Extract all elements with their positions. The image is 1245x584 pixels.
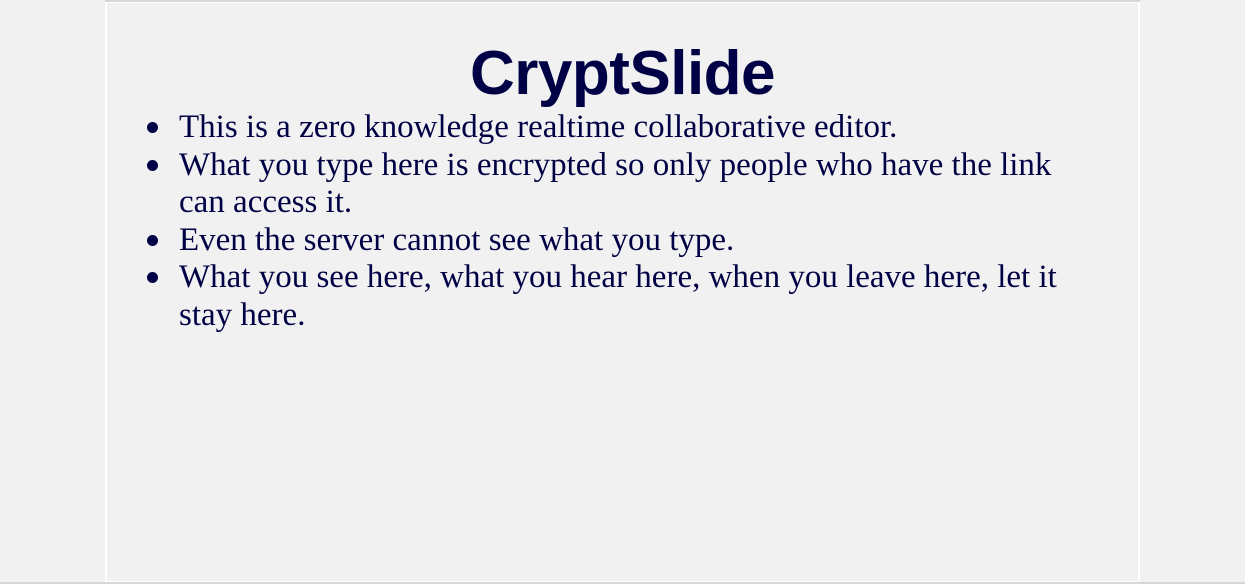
bullet-dot-icon [147, 160, 158, 171]
bullet-text: This is a zero knowledge realtime collab… [179, 109, 1076, 147]
left-gutter [0, 0, 105, 584]
bullet-dot-icon [147, 122, 158, 133]
bullet-text: Even the server cannot see what you type… [179, 222, 1076, 260]
bullet-text: What you type here is encrypted so only … [179, 147, 1076, 222]
bullet-text: What you see here, what you hear here, w… [179, 259, 1076, 334]
list-item: What you type here is encrypted so only … [107, 147, 1138, 222]
bullet-dot-icon [147, 235, 158, 246]
slide-title: CryptSlide [107, 3, 1138, 109]
slide-surface[interactable]: CryptSlide This is a zero knowledge real… [105, 2, 1140, 582]
list-item: Even the server cannot see what you type… [107, 222, 1138, 260]
list-item: This is a zero knowledge realtime collab… [107, 109, 1138, 147]
list-item: What you see here, what you hear here, w… [107, 259, 1138, 334]
right-gutter [1140, 0, 1245, 584]
slide-bullet-list: This is a zero knowledge realtime collab… [107, 109, 1138, 334]
slide-viewer: CryptSlide This is a zero knowledge real… [0, 0, 1245, 584]
bullet-dot-icon [147, 272, 158, 283]
